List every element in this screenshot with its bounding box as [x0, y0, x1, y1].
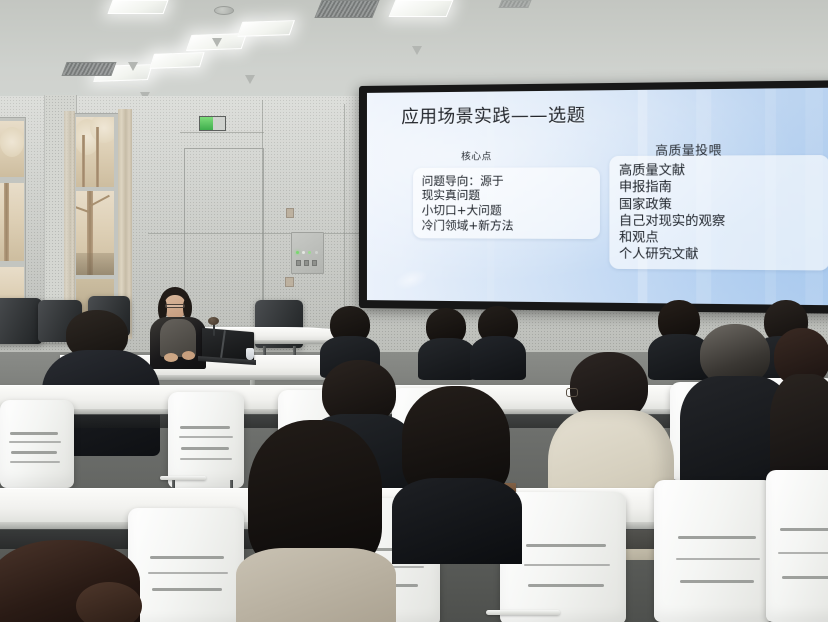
attendee-row1	[470, 306, 526, 368]
slide-line: 申报指南	[619, 179, 820, 196]
slide-line: 小切口+大问题	[422, 203, 591, 218]
chair-slot	[10, 432, 58, 435]
chair-slot	[10, 461, 60, 463]
audience-chair[interactable]	[168, 392, 244, 488]
window-glass	[76, 191, 114, 275]
attendee-body	[392, 478, 522, 564]
chair-slot	[526, 544, 606, 547]
exit-sign-arrow	[213, 117, 225, 130]
chair-slot	[780, 528, 828, 531]
wall-outlet-box	[285, 277, 294, 287]
projection-screen[interactable]: 应用场景实践——选题 核心点 高质量投喂 问题导向：源于 现实真问题 小切口+大…	[359, 80, 828, 314]
chair-slot	[778, 552, 828, 554]
ceiling-light-panel	[149, 52, 204, 69]
control-panel-button[interactable]	[312, 260, 317, 266]
slide-line: 自己对现实的观察	[619, 212, 820, 229]
chair-slot	[180, 426, 230, 429]
slide-line: 高质量文献	[619, 161, 820, 178]
chair-slot	[782, 576, 828, 579]
attendee-foreground-right	[392, 386, 524, 556]
sprinkler-head	[212, 38, 222, 47]
tree-trunk	[96, 127, 99, 187]
chair-slot	[179, 436, 233, 438]
presentation-slide: 应用场景实践——选题 核心点 高质量投喂 问题导向：源于 现实真问题 小切口+大…	[367, 88, 828, 306]
microphone-stand	[213, 324, 215, 336]
attendee-glasses	[566, 388, 578, 397]
attendee-body	[418, 338, 476, 380]
attendee-body	[236, 548, 396, 622]
wall-control-panel[interactable]	[291, 232, 324, 274]
tree-trunk	[4, 183, 9, 261]
chair-slot	[148, 572, 228, 574]
lecture-hall-screenshot: 应用场景实践——选题 核心点 高质量投喂 问题导向：源于 现实真问题 小切口+大…	[0, 0, 828, 622]
control-panel-led	[308, 251, 311, 254]
attendee-foreground-left	[0, 540, 160, 622]
presenter-hand	[164, 353, 178, 362]
audience-chair-foreground[interactable]	[766, 470, 828, 622]
control-panel-button[interactable]	[296, 260, 301, 266]
emergency-exit-sign	[199, 116, 226, 131]
chair-slot	[11, 451, 57, 454]
control-panel-led	[296, 251, 299, 254]
control-panel-led	[302, 251, 305, 254]
microphone-head[interactable]	[208, 317, 219, 325]
smoke-detector	[214, 6, 234, 15]
tree-foliage	[0, 127, 24, 157]
sprinkler-head	[128, 62, 138, 71]
window-glass	[76, 117, 114, 187]
chair-arm	[486, 610, 560, 615]
slide-line: 国家政策	[619, 196, 820, 213]
water-cup[interactable]	[246, 348, 254, 360]
attendee-body	[470, 336, 526, 380]
window-glass	[0, 183, 24, 261]
audience-chair-foreground[interactable]	[654, 480, 774, 622]
slide-title: 应用场景实践——选题	[401, 102, 585, 129]
slide-column-heading-left: 核心点	[461, 148, 492, 162]
exit-sign-glow	[200, 117, 213, 130]
attendee-body	[770, 374, 828, 484]
sprinkler-head	[245, 75, 255, 84]
chair-arm	[160, 476, 206, 480]
screen-bezel: 应用场景实践——选题 核心点 高质量投喂 问题导向：源于 现实真问题 小切口+大…	[359, 80, 828, 314]
wall-outlet-box	[286, 208, 294, 218]
slide-card-quality-input: 高质量文献 申报指南 国家政策 自己对现实的观察 和观点 个人研究文献	[610, 155, 828, 270]
control-panel-led	[315, 251, 318, 254]
window-glass	[0, 121, 24, 177]
slide-line: 现实真问题	[422, 188, 591, 203]
slide-line: 个人研究文献	[619, 246, 820, 264]
chair-slot	[528, 584, 604, 587]
ceiling-light-panel	[237, 20, 295, 37]
slide-card-core-points: 问题导向：源于 现实真问题 小切口+大问题 冷门领域+新方法	[413, 167, 600, 240]
chair-slot	[678, 536, 756, 539]
attendee-foreground-center	[236, 420, 396, 622]
presenter-glasses	[165, 304, 185, 308]
chair-dark[interactable]	[0, 298, 42, 344]
slide-line: 和观点	[619, 229, 820, 247]
wall-panel-seam	[180, 132, 264, 133]
slide-line: 冷门领域+新方法	[422, 218, 591, 233]
chair-slot	[524, 564, 610, 566]
chair-slot	[150, 556, 224, 559]
chair-slot	[9, 441, 61, 443]
wall-door-outline	[184, 148, 264, 306]
presenter-hand	[182, 351, 195, 360]
chair-slot	[180, 458, 232, 460]
hvac-vent	[498, 0, 531, 8]
ceiling-light-panel	[107, 0, 168, 14]
ceiling-light-panel	[389, 0, 454, 17]
tree-trunk	[82, 135, 85, 187]
attendee-hair-ponytail	[76, 582, 142, 622]
hvac-vent	[314, 0, 379, 18]
attendee-row1	[418, 308, 476, 368]
slide-line: 问题导向：源于	[422, 173, 591, 188]
presenter-hair-side	[183, 297, 192, 319]
chair-slot	[152, 588, 222, 591]
chair-slot	[680, 580, 754, 583]
sprinkler-head	[412, 46, 422, 55]
attendee-far-right	[770, 328, 828, 478]
attendee-row1	[320, 306, 380, 368]
audience-chair[interactable]	[0, 400, 74, 488]
chair-slot	[181, 447, 229, 450]
control-panel-button[interactable]	[304, 260, 309, 266]
hvac-vent	[61, 62, 116, 76]
chair-slot	[676, 558, 760, 560]
wall-panel-seam	[344, 104, 345, 309]
tree-foliage	[90, 117, 114, 143]
